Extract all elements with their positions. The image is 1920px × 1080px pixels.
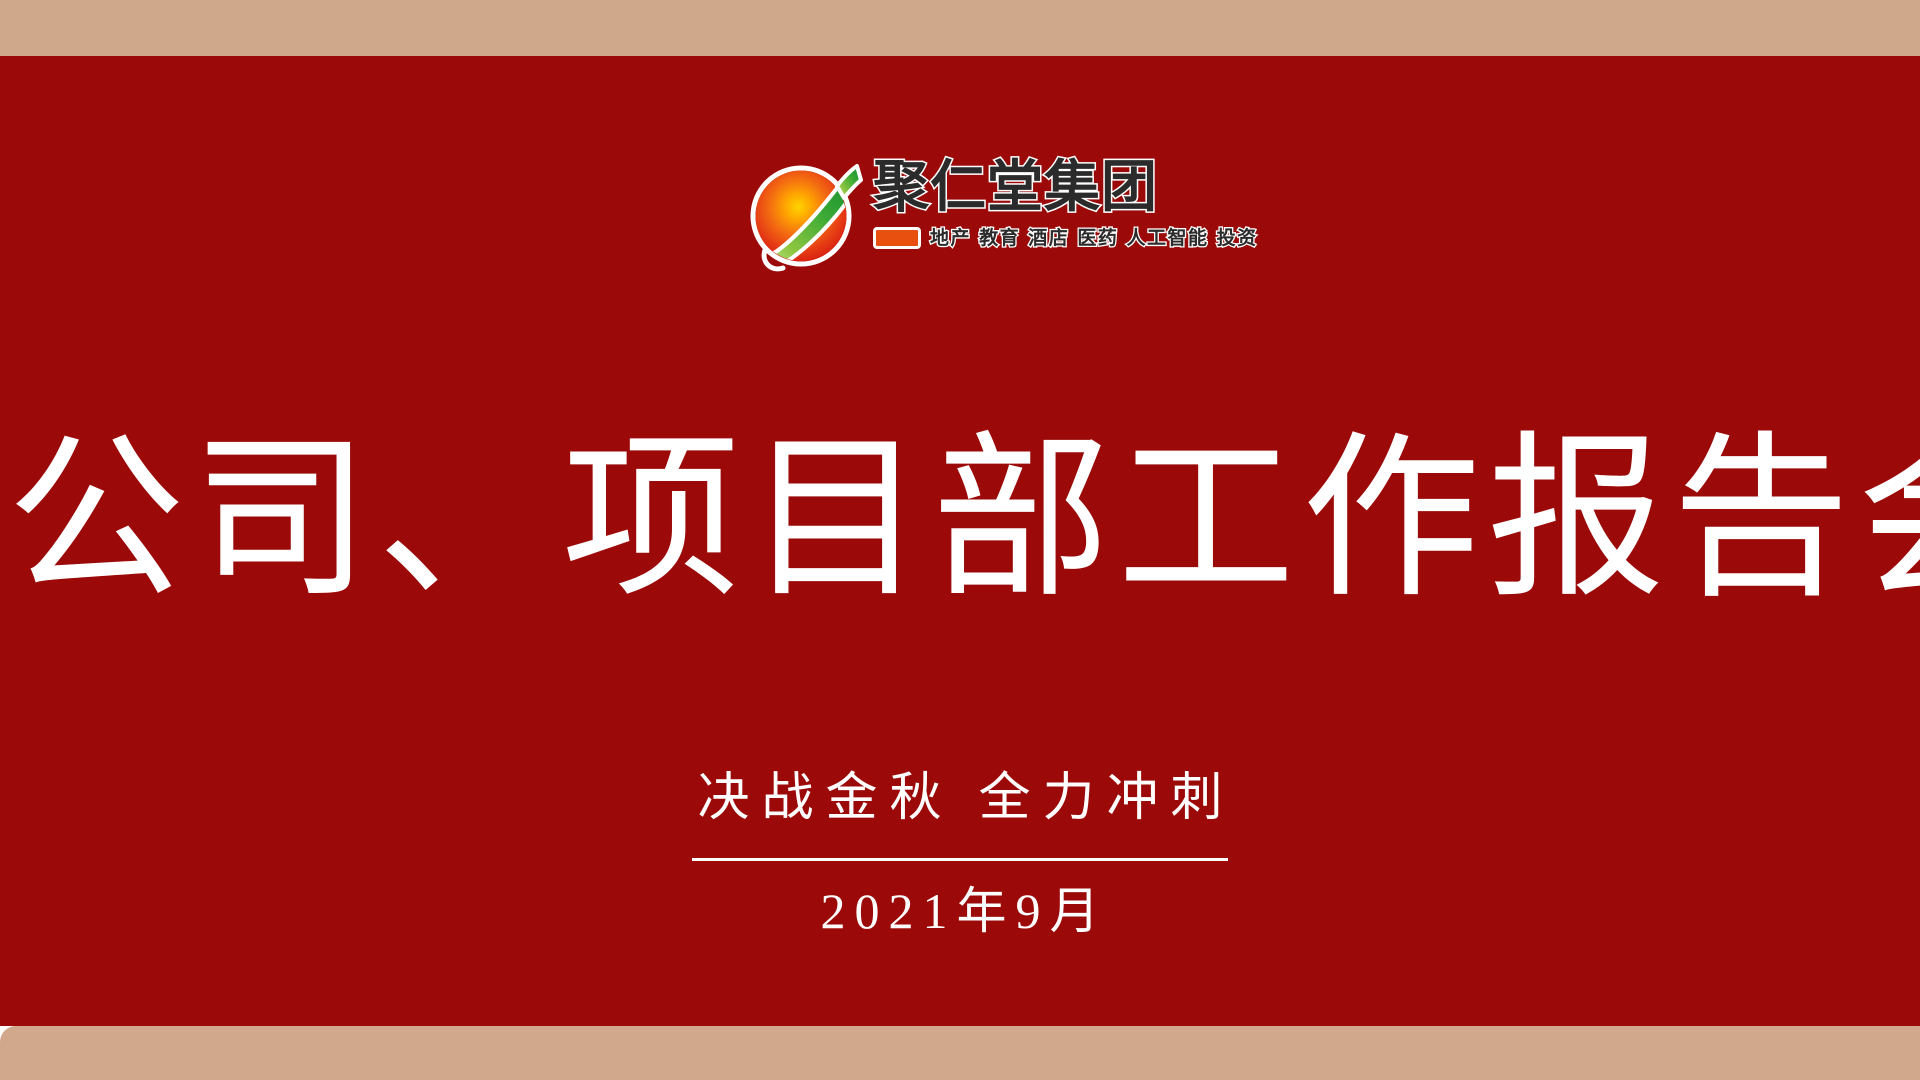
logo-wordmark: 聚仁堂集团 地产 教育 酒店 医药 人工智能 投资 (873, 154, 1193, 282)
subtitle-block: 决战金秋 全力冲刺 2021年9月 (0, 768, 1920, 941)
globe-swoosh-logo (745, 158, 863, 276)
business-lines: 地产 教育 酒店 医药 人工智能 投资 (930, 226, 1258, 250)
slide-slogan: 决战金秋 全力冲刺 (0, 768, 1920, 830)
slide-date: 2021年9月 (0, 881, 1920, 941)
bottom-decorative-band (0, 1026, 1920, 1080)
presentation-slide: 聚仁堂集团 地产 教育 酒店 医药 人工智能 投资 公司、项目部工作报告会 决战… (0, 0, 1920, 1080)
company-name: 聚仁堂集团 (873, 156, 1158, 220)
top-decorative-band (0, 0, 1920, 56)
company-logo: 聚仁堂集团 地产 教育 酒店 医药 人工智能 投资 (745, 154, 1195, 282)
business-lines-row: 地产 教育 酒店 医药 人工智能 投资 (873, 226, 1258, 250)
slide-title: 公司、项目部工作报告会 (0, 424, 1920, 616)
slide-body: 聚仁堂集团 地产 教育 酒店 医药 人工智能 投资 公司、项目部工作报告会 决战… (0, 56, 1920, 1026)
divider-rule (692, 858, 1228, 861)
orange-chip-icon (873, 227, 921, 249)
